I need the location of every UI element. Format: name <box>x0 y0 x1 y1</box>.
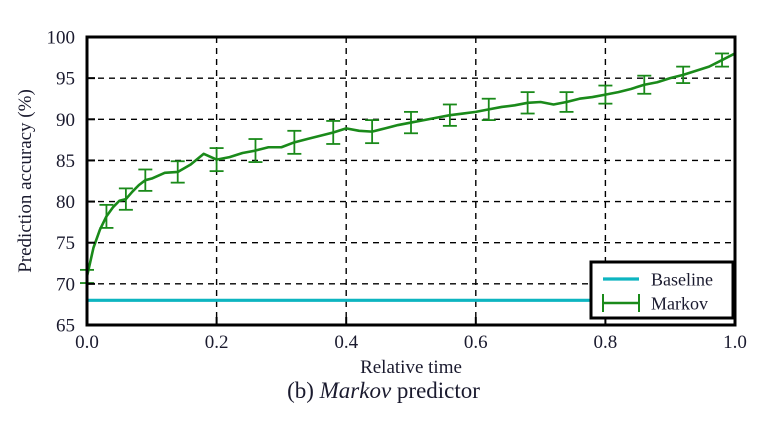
y-axis-title: Prediction accuracy (%) <box>15 89 36 273</box>
xtick-label: 1.0 <box>723 332 747 353</box>
ytick-label: 80 <box>56 192 75 213</box>
xtick-label: 0.6 <box>464 332 488 353</box>
chart-canvas: 657075808590951000.00.20.40.60.81.0 Rela… <box>0 0 767 431</box>
xtick-label: 0.4 <box>334 332 358 353</box>
xtick-label: 0.2 <box>205 332 229 353</box>
ytick-label: 75 <box>56 233 75 254</box>
caption-prefix: (b) <box>287 378 320 403</box>
xtick-label: 0.0 <box>75 332 99 353</box>
figure-caption: (b) Markov predictor <box>0 378 767 404</box>
xtick-label: 0.8 <box>594 332 618 353</box>
chart-legend[interactable]: BaselineMarkov <box>591 262 733 318</box>
x-axis-title: Relative time <box>360 357 462 378</box>
caption-suffix: predictor <box>391 378 480 403</box>
chart-figure: 657075808590951000.00.20.40.60.81.0 Rela… <box>0 0 767 431</box>
legend-label: Baseline <box>651 270 713 290</box>
ytick-label: 90 <box>56 110 75 131</box>
ytick-label: 65 <box>56 316 75 337</box>
legend-label: Markov <box>651 294 708 314</box>
ytick-label: 95 <box>56 69 75 90</box>
figure-page: 657075808590951000.00.20.40.60.81.0 Rela… <box>0 0 767 431</box>
ytick-label: 85 <box>56 151 75 172</box>
caption-emphasis: Markov <box>320 378 392 403</box>
ytick-label: 70 <box>56 274 75 295</box>
ytick-label: 100 <box>47 28 76 49</box>
